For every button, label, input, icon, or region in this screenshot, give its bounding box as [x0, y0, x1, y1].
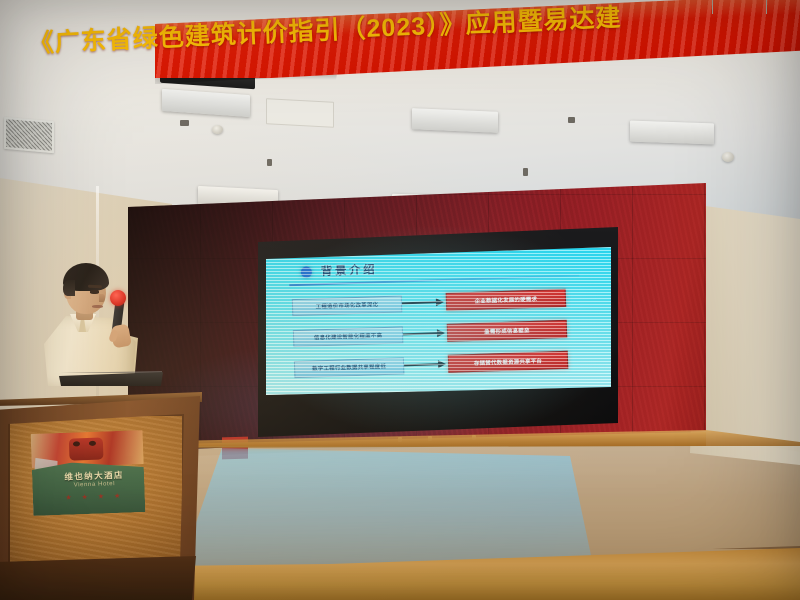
flow-box-right: 亟需形成信息壁垒 [447, 320, 568, 342]
slide-bullet-icon [301, 266, 312, 277]
flow-box-right: 企业数据化发展的硬需求 [446, 289, 567, 311]
presentation-slide: 背景介绍 工程造价市场化改革深化 企业数据化发展的硬需求 信息化建设智能化程度不… [266, 247, 611, 395]
flow-arrow-icon [404, 357, 448, 372]
flow-box-left: 工程造价市场化改革深化 [292, 295, 403, 316]
presenter-mouth [92, 305, 103, 308]
ceiling-sensor [267, 159, 272, 166]
presenter-hair-side [63, 280, 75, 296]
downlight-fixture [630, 121, 714, 145]
slide-title: 背景介绍 [321, 261, 378, 279]
presenter-eye [90, 290, 99, 294]
flow-row: 工程造价市场化改革深化 企业数据化发展的硬需求 [292, 289, 566, 316]
ceiling-access-hatch [266, 98, 334, 128]
slide-title-row: 背景介绍 [301, 261, 378, 280]
banner-tie-string [766, 0, 767, 14]
smoke-detector [722, 152, 734, 162]
microphone-icon [110, 290, 126, 306]
banner-tie-string [712, 0, 713, 14]
hotel-emblem: 维也纳大酒店 Vienna Hotel ★ ★ ★ ★ [31, 430, 146, 516]
podium-base [0, 556, 196, 600]
downlight-fixture [412, 108, 498, 133]
ceiling-sensor [523, 168, 528, 176]
flow-row: 信息化建设智能化程度不高 亟需形成信息壁垒 [293, 320, 567, 347]
ceiling-air-vent [4, 117, 54, 153]
right-side-wall [690, 205, 800, 465]
ceiling-sensor [180, 120, 189, 126]
flow-arrow-icon [403, 326, 447, 341]
flow-box-left: 数字工程行业数据共享程度低 [294, 357, 405, 378]
led-screen[interactable]: 背景介绍 工程造价市场化改革深化 企业数据化发展的硬需求 信息化建设智能化程度不… [266, 247, 611, 395]
conference-hall-photo: 背景介绍 工程造价市场化改革深化 企业数据化发展的硬需求 信息化建设智能化程度不… [0, 0, 800, 600]
flow-box-left: 信息化建设智能化程度不高 [293, 326, 404, 347]
presenter-nose [99, 294, 105, 302]
flow-box-right: 存储替代数据资源共享平台 [448, 351, 569, 373]
flow-arrow-icon [402, 295, 446, 310]
ceiling-sensor [568, 117, 575, 123]
smoke-detector [212, 125, 223, 134]
flow-row: 数字工程行业数据共享程度低 存储替代数据资源共享平台 [294, 351, 568, 378]
